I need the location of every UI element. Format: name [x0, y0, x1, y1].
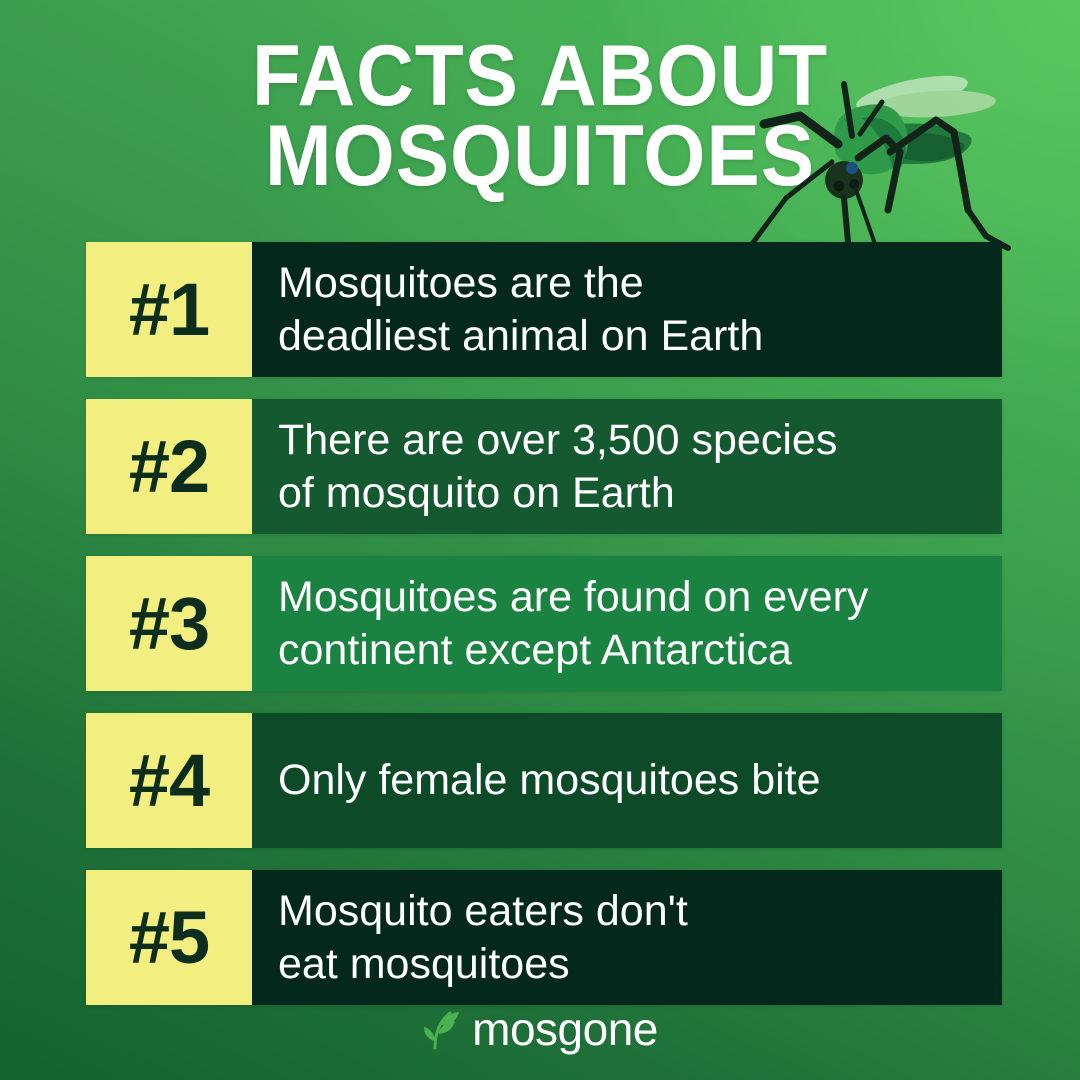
mosquito-illustration	[740, 58, 1040, 268]
fact-text: There are over 3,500 species of mosquito…	[252, 399, 1002, 534]
fact-text-line: deadliest animal on Earth	[278, 310, 984, 363]
brand-name: mosgone	[472, 1006, 658, 1052]
fact-text-line: There are over 3,500 species	[278, 414, 984, 467]
fact-number-badge: #5	[86, 870, 252, 1005]
fact-number-badge: #3	[86, 556, 252, 691]
fact-number-badge: #1	[86, 242, 252, 377]
fact-text-line: Mosquitoes are found on every	[278, 571, 984, 624]
fact-text-line: eat mosquitoes	[278, 938, 984, 991]
fact-text-line: continent except Antarctica	[278, 624, 984, 677]
fact-row: #2 There are over 3,500 species of mosqu…	[86, 399, 1002, 534]
infographic-poster: FACTS ABOUT MOSQUITOES	[0, 0, 1080, 1080]
fact-text: Mosquitoes are the deadliest animal on E…	[252, 242, 1002, 377]
fact-number-badge: #2	[86, 399, 252, 534]
fact-text-line: Mosquito eaters don't	[278, 885, 984, 938]
fact-text: Mosquito eaters don't eat mosquitoes	[252, 870, 1002, 1005]
fact-text-line: Only female mosquitoes bite	[278, 754, 984, 807]
fact-text: Only female mosquitoes bite	[252, 713, 1002, 848]
leaf-branch-icon	[422, 1007, 462, 1051]
fact-text-line: of mosquito on Earth	[278, 467, 984, 520]
fact-number-badge: #4	[86, 713, 252, 848]
fact-row: #4 Only female mosquitoes bite	[86, 713, 1002, 848]
fact-text-line: Mosquitoes are the	[278, 257, 984, 310]
fact-row: #3 Mosquitoes are found on every contine…	[86, 556, 1002, 691]
facts-list: #1 Mosquitoes are the deadliest animal o…	[86, 242, 1002, 1005]
fact-text: Mosquitoes are found on every continent …	[252, 556, 1002, 691]
fact-row: #1 Mosquitoes are the deadliest animal o…	[86, 242, 1002, 377]
fact-row: #5 Mosquito eaters don't eat mosquitoes	[86, 870, 1002, 1005]
footer-branding: mosgone	[0, 1006, 1080, 1052]
